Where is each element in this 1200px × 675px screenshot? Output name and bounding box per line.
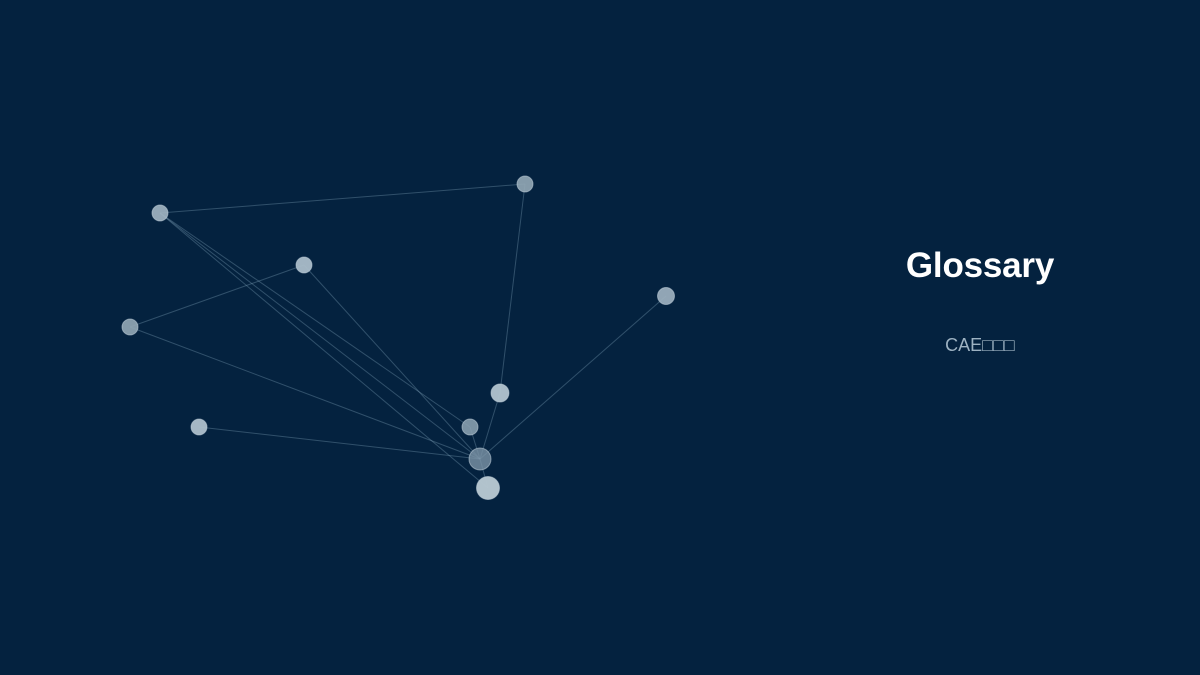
graph-node[interactable] [491,384,509,402]
graph-edge [160,213,480,459]
graph-edge [480,296,666,459]
graph-node[interactable] [477,477,500,500]
graph-edge [160,184,525,213]
graph-node[interactable] [122,319,138,335]
graph-node[interactable] [462,419,478,435]
graph-node[interactable] [296,257,312,273]
graph-node[interactable] [152,205,168,221]
graph-node[interactable] [469,448,491,470]
graph-edge [304,265,480,459]
node-graph-svg [0,0,760,675]
graph-edge [160,213,470,427]
graph-node-layer [122,176,675,500]
graph-node[interactable] [658,288,675,305]
node-graph-panel [0,0,760,675]
page-subtitle: CAE□□□ [760,332,1200,358]
page-title: Glossary [760,243,1200,289]
title-panel: Glossary CAE□□□ [760,0,1200,675]
graph-edge [130,265,304,327]
graph-node[interactable] [517,176,533,192]
graph-edge [500,184,525,393]
graph-node[interactable] [191,419,207,435]
slide-canvas: Glossary CAE□□□ [0,0,1200,675]
graph-edge [160,213,488,488]
graph-edge-layer [130,184,666,488]
